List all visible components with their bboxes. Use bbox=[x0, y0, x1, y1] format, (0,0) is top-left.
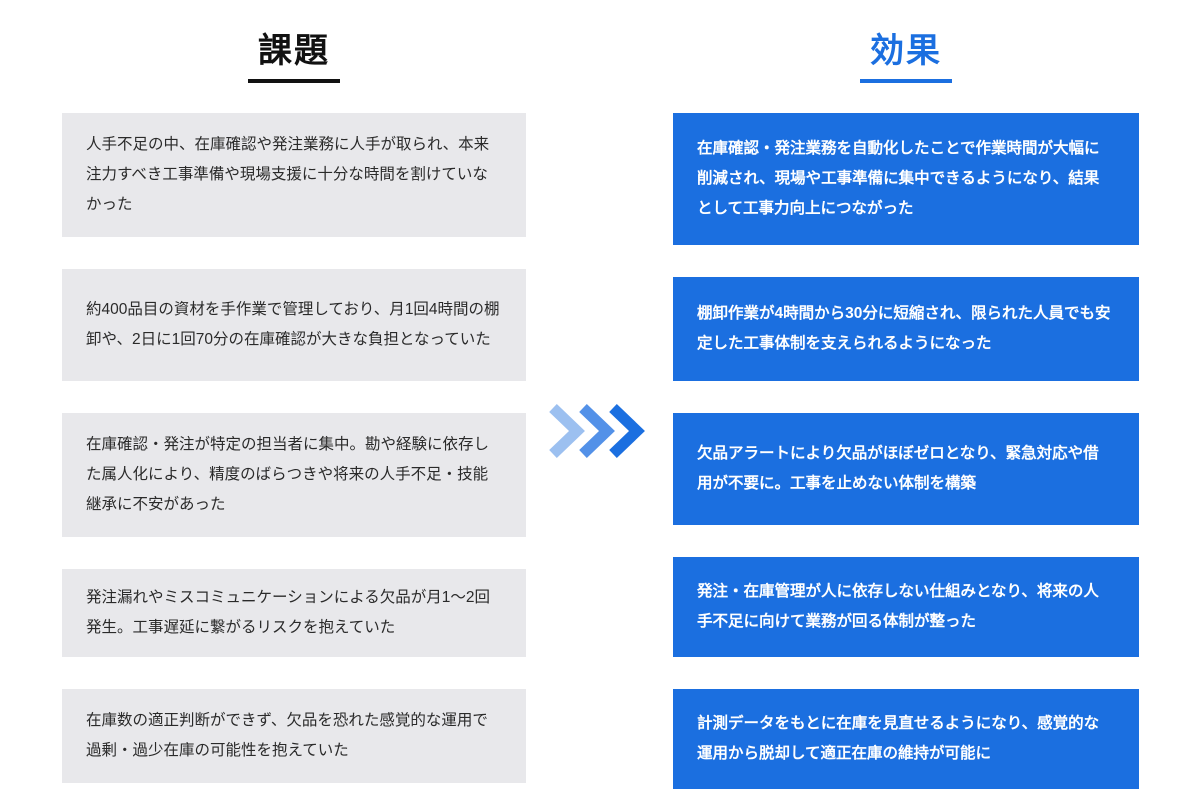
effect-card: 発注・在庫管理が人に依存しない仕組みとなり、将来の人手不足に向けて業務が回る体制… bbox=[673, 557, 1139, 657]
issue-card-text: 約400品目の資材を手作業で管理しており、月1回4時間の棚卸や、2日に1回70分… bbox=[86, 295, 500, 355]
effects-title-text: 効果 bbox=[870, 32, 942, 70]
effect-card: 計測データをもとに在庫を見直せるようになり、感覚的な運用から脱却して適正在庫の維… bbox=[673, 689, 1139, 789]
page-title-issues: 課題 bbox=[62, 30, 526, 83]
issue-card: 在庫数の適正判断ができず、欠品を恐れた感覚的な運用で過剰・過少在庫の可能性を抱え… bbox=[62, 689, 526, 783]
issue-card: 人手不足の中、在庫確認や発注業務に人手が取られ、本来注力すべき工事準備や現場支援… bbox=[62, 113, 526, 237]
issue-card: 発注漏れやミスコミュニケーションによる欠品が月1〜2回発生。工事遅延に繋がるリス… bbox=[62, 569, 526, 657]
effect-card: 欠品アラートにより欠品がほぼゼロとなり、緊急対応や借用が不要に。工事を止めない体… bbox=[673, 413, 1139, 525]
issue-card-text: 在庫確認・発注が特定の担当者に集中。勘や経験に依存した属人化により、精度のばらつ… bbox=[86, 430, 500, 521]
issues-card-list: 人手不足の中、在庫確認や発注業務に人手が取られ、本来注力すべき工事準備や現場支援… bbox=[62, 113, 526, 783]
issue-card-text: 人手不足の中、在庫確認や発注業務に人手が取られ、本来注力すべき工事準備や現場支援… bbox=[86, 130, 500, 221]
effect-card-text: 棚卸作業が4時間から30分に短縮され、限られた人員でも安定した工事体制を支えられ… bbox=[697, 299, 1113, 359]
effect-card-text: 計測データをもとに在庫を見直せるようになり、感覚的な運用から脱却して適正在庫の維… bbox=[697, 709, 1113, 769]
comparison-slide: 課題 効果 人手不足の中、在庫確認や発注業務に人手が取られ、本来注力すべき工事準… bbox=[0, 0, 1200, 794]
issue-card: 約400品目の資材を手作業で管理しており、月1回4時間の棚卸や、2日に1回70分… bbox=[62, 269, 526, 381]
issue-card-text: 発注漏れやミスコミュニケーションによる欠品が月1〜2回発生。工事遅延に繋がるリス… bbox=[86, 583, 500, 643]
issue-card: 在庫確認・発注が特定の担当者に集中。勘や経験に依存した属人化により、精度のばらつ… bbox=[62, 413, 526, 537]
effects-title-underline bbox=[860, 79, 952, 83]
page-title-effects: 効果 bbox=[673, 30, 1139, 83]
effect-card-text: 発注・在庫管理が人に依存しない仕組みとなり、将来の人手不足に向けて業務が回る体制… bbox=[697, 577, 1113, 637]
effect-card: 棚卸作業が4時間から30分に短縮され、限られた人員でも安定した工事体制を支えられ… bbox=[673, 277, 1139, 381]
issues-title-underline bbox=[248, 79, 340, 83]
effects-card-list: 在庫確認・発注業務を自動化したことで作業時間が大幅に削減され、現場や工事準備に集… bbox=[673, 113, 1139, 789]
effect-card-text: 在庫確認・発注業務を自動化したことで作業時間が大幅に削減され、現場や工事準備に集… bbox=[697, 134, 1113, 225]
effect-card: 在庫確認・発注業務を自動化したことで作業時間が大幅に削減され、現場や工事準備に集… bbox=[673, 113, 1139, 245]
triple-chevron-right-icon bbox=[549, 396, 649, 466]
issue-card-text: 在庫数の適正判断ができず、欠品を恐れた感覚的な運用で過剰・過少在庫の可能性を抱え… bbox=[86, 706, 500, 766]
issues-title-text: 課題 bbox=[258, 32, 330, 70]
effect-card-text: 欠品アラートにより欠品がほぼゼロとなり、緊急対応や借用が不要に。工事を止めない体… bbox=[697, 439, 1113, 499]
